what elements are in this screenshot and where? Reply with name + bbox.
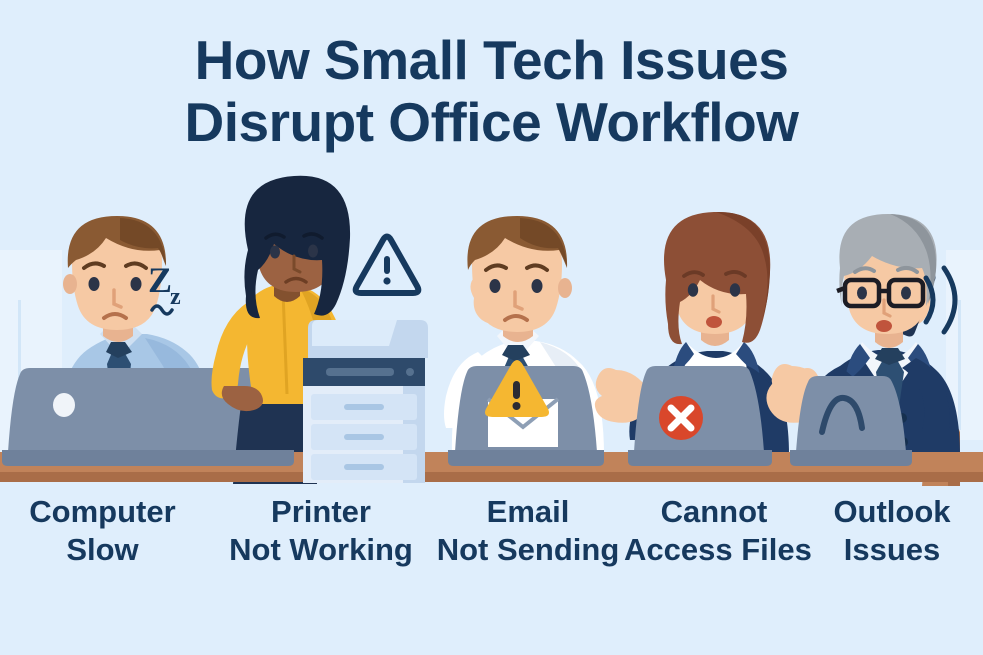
eye-left-1	[89, 277, 100, 291]
eye-right-2	[308, 245, 318, 258]
printer-top-light-2	[312, 320, 397, 346]
caption-computer-slow: Computer Slow	[0, 493, 205, 569]
scene-printer-not-working	[212, 176, 429, 484]
caption-cannot-access-files: Cannot Access Files	[624, 493, 804, 569]
eye-right-5	[901, 287, 911, 300]
infographic-canvas: How Small Tech Issues Disrupt Office Wor…	[0, 0, 983, 655]
printer-indicator-2	[406, 368, 414, 376]
warning-triangle-outline-icon	[356, 237, 419, 294]
caption-line-1: Outlook	[806, 493, 978, 531]
scene-outlook-issues	[771, 214, 960, 486]
eye-left-3	[490, 279, 501, 293]
caption-line-1: Printer	[212, 493, 430, 531]
printer-drawer-handle-1	[344, 404, 384, 410]
caption-printer-not-working: Printer Not Working	[212, 493, 430, 569]
error-circle-x-icon	[659, 396, 703, 440]
laptop-logo-1	[53, 393, 75, 417]
svg-text:z: z	[170, 284, 181, 310]
eye-right-1	[131, 277, 142, 291]
eye-left-4	[688, 283, 698, 297]
scene-cannot-access-files	[595, 212, 821, 467]
printer-drawer-handle-2	[344, 434, 384, 440]
caption-line-1: Cannot	[624, 493, 804, 531]
eye-right-3	[532, 279, 543, 293]
caption-line-2: Not Working	[212, 531, 430, 569]
caption-line-2: Slow	[0, 531, 205, 569]
eye-left-2	[270, 246, 280, 259]
scene-email-not-sending	[444, 216, 604, 467]
caption-line-2: Not Sending	[432, 531, 624, 569]
mouth-open-4	[706, 316, 722, 328]
mouth-open-5	[876, 320, 892, 332]
caption-line-2: Issues	[806, 531, 978, 569]
printer-slot-2	[326, 368, 394, 376]
eye-left-5	[857, 287, 867, 300]
caption-line-1: Computer	[0, 493, 205, 531]
caption-email-not-sending: Email Not Sending	[432, 493, 624, 569]
svg-text:Z: Z	[148, 260, 172, 300]
ear-3	[558, 278, 572, 298]
laptop-lid-5	[796, 376, 906, 452]
ear-1	[63, 274, 77, 294]
desk-surface	[0, 452, 983, 472]
desk-edge	[0, 472, 983, 482]
caption-outlook-issues: Outlook Issues	[806, 493, 978, 569]
eye-right-4	[730, 283, 740, 297]
caption-line-2: Access Files	[624, 531, 804, 569]
caption-line-1: Email	[432, 493, 624, 531]
